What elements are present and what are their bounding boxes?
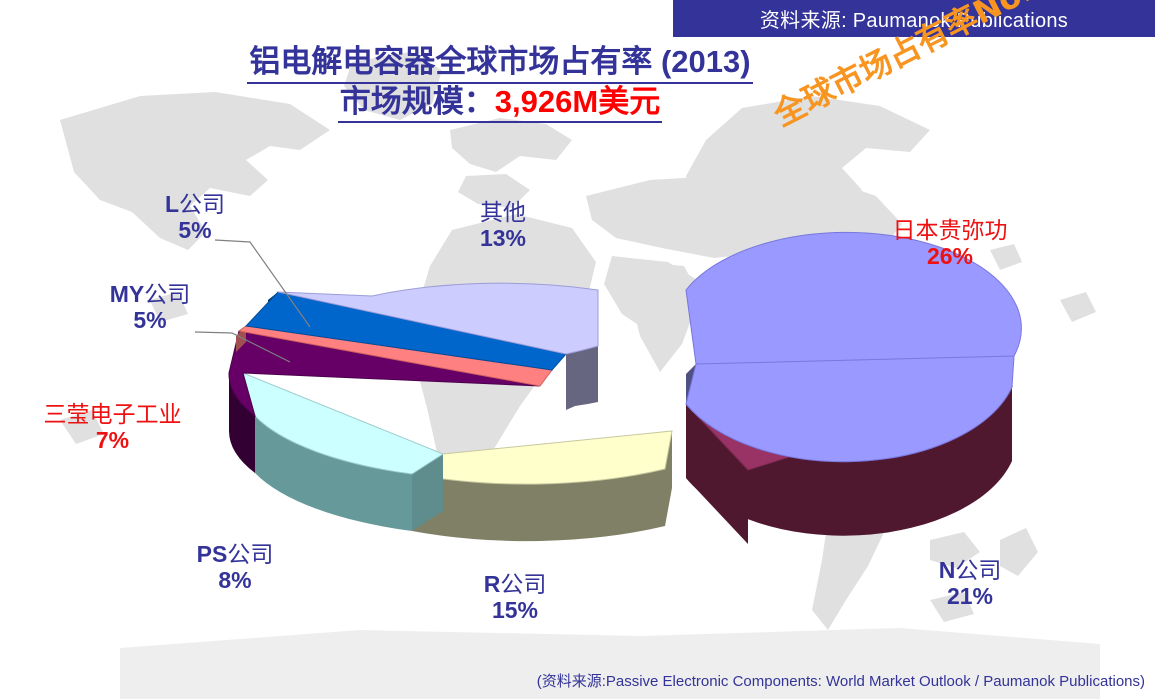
label-日本贵弥功: 日本贵弥功 26% xyxy=(835,218,1065,270)
label-L公司-name-suffix: 公司 xyxy=(179,191,225,217)
label-其他-name: 其他 xyxy=(428,200,578,226)
label-PS公司: PS公司 8% xyxy=(155,542,315,594)
footer-source: (资料来源:Passive Electronic Components: Wor… xyxy=(0,670,1145,691)
label-R公司-name-suffix: 公司 xyxy=(500,571,546,597)
label-三莹电子工业: 三莹电子工业 7% xyxy=(5,402,220,454)
label-日本贵弥功-value: 26% xyxy=(835,244,1065,270)
label-日本贵弥功-name: 日本贵弥功 xyxy=(835,218,1065,244)
slide-canvas: 资料来源: Paumanok Publications 铝电解电容器全球市场占有… xyxy=(0,0,1155,699)
label-N公司-value: 21% xyxy=(895,584,1045,610)
label-MY公司: MY公司 5% xyxy=(65,282,235,334)
label-MY公司-name-suffix: 公司 xyxy=(144,281,190,307)
label-三莹电子工业-value: 7% xyxy=(5,428,220,454)
label-R公司: R公司 15% xyxy=(440,572,590,624)
label-L公司: L公司 5% xyxy=(120,192,270,244)
label-其他-value: 13% xyxy=(428,226,578,252)
label-MY公司-value: 5% xyxy=(65,308,235,334)
label-R公司-value: 15% xyxy=(440,598,590,624)
label-三莹电子工业-name: 三莹电子工业 xyxy=(5,402,220,428)
label-N公司-name-suffix: 公司 xyxy=(955,557,1001,583)
label-N公司: N公司 21% xyxy=(895,558,1045,610)
label-L公司-value: 5% xyxy=(120,218,270,244)
label-PS公司-name-suffix: 公司 xyxy=(227,541,273,567)
label-PS公司-value: 8% xyxy=(155,568,315,594)
label-其他: 其他 13% xyxy=(428,200,578,252)
